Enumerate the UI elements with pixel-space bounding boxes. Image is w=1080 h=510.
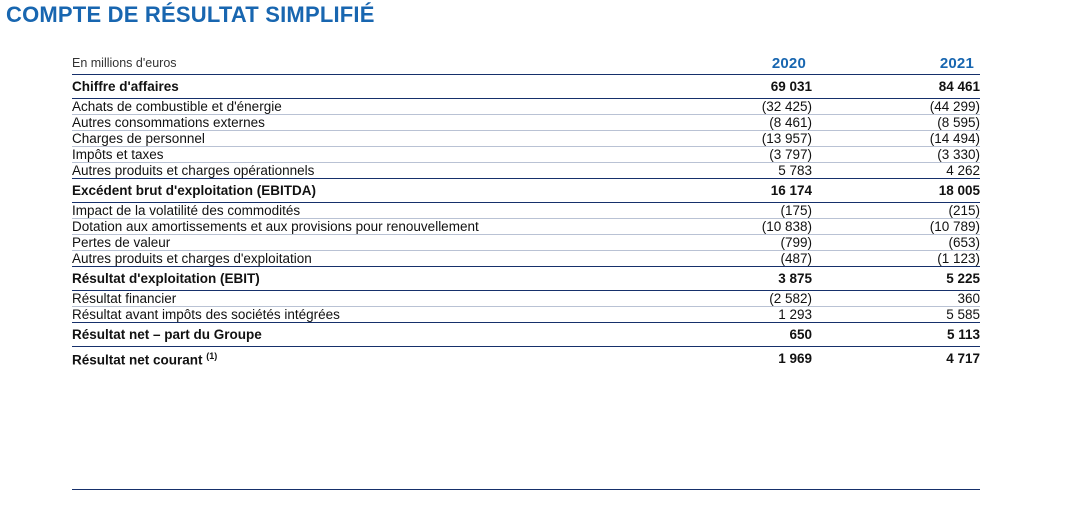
table-row: Résultat financier (2 582) 360 [72,291,980,307]
row-value-2020: 650 [644,323,812,347]
row-label: Impact de la volatilité des commodités [72,203,644,219]
column-header-2021: 2021 [812,52,980,75]
row-value-2020: 1 293 [644,307,812,323]
row-label: Charges de personnel [72,131,644,147]
row-value-2020: 69 031 [644,75,812,99]
table-row: Dotation aux amortissements et aux provi… [72,219,980,235]
row-value-2021: 84 461 [812,75,980,99]
table-row: Excédent brut d'exploitation (EBITDA) 16… [72,179,980,203]
table-row: Résultat net – part du Groupe 650 5 113 [72,323,980,347]
footnote-marker: (1) [206,351,217,361]
document-page: COMPTE DE RÉSULTAT SIMPLIFIÉ En millions… [0,0,1080,510]
table-row: Autres produits et charges d'exploitatio… [72,251,980,267]
column-header-2020: 2020 [644,52,812,75]
income-statement-table: En millions d'euros 2020 2021 Chiffre d'… [72,52,980,371]
table-row: Achats de combustible et d'énergie (32 4… [72,99,980,115]
row-label: Résultat net – part du Groupe [72,323,644,347]
table-row: Impôts et taxes (3 797) (3 330) [72,147,980,163]
table-row: Résultat net courant (1) 1 969 4 717 [72,347,980,371]
row-value-2020: (799) [644,235,812,251]
row-value-2021: (215) [812,203,980,219]
row-value-2020: (3 797) [644,147,812,163]
row-value-2020: 16 174 [644,179,812,203]
row-value-2021: (653) [812,235,980,251]
row-value-2020: (2 582) [644,291,812,307]
row-label: Chiffre d'affaires [72,75,644,99]
row-label: Résultat financier [72,291,644,307]
row-label: Autres produits et charges opérationnels [72,163,644,179]
page-title: COMPTE DE RÉSULTAT SIMPLIFIÉ [6,2,375,28]
row-label: Autres produits et charges d'exploitatio… [72,251,644,267]
row-value-2020: (175) [644,203,812,219]
table-bottom-rule [72,489,980,490]
table-row: Impact de la volatilité des commodités (… [72,203,980,219]
unit-label: En millions d'euros [72,52,644,75]
row-label: Excédent brut d'exploitation (EBITDA) [72,179,644,203]
row-label: Résultat d'exploitation (EBIT) [72,267,644,291]
row-label: Autres consommations externes [72,115,644,131]
row-label: Dotation aux amortissements et aux provi… [72,219,644,235]
row-value-2021: (14 494) [812,131,980,147]
row-value-2021: 4 262 [812,163,980,179]
table-row: Résultat avant impôts des sociétés intég… [72,307,980,323]
table-header-row: En millions d'euros 2020 2021 [72,52,980,75]
row-label: Pertes de valeur [72,235,644,251]
row-value-2021: 5 225 [812,267,980,291]
row-label: Impôts et taxes [72,147,644,163]
table-row: Autres produits et charges opérationnels… [72,163,980,179]
row-value-2021: 18 005 [812,179,980,203]
row-value-2021: 5 585 [812,307,980,323]
row-value-2020: (32 425) [644,99,812,115]
row-label: Achats de combustible et d'énergie [72,99,644,115]
row-value-2020: 1 969 [644,347,812,371]
table-row: Pertes de valeur (799) (653) [72,235,980,251]
row-value-2021: (3 330) [812,147,980,163]
row-value-2020: 5 783 [644,163,812,179]
row-label-text: Résultat net courant [72,352,206,367]
row-label: Résultat net courant (1) [72,347,644,371]
row-value-2020: 3 875 [644,267,812,291]
table-row: Charges de personnel (13 957) (14 494) [72,131,980,147]
row-label: Résultat avant impôts des sociétés intég… [72,307,644,323]
row-value-2020: (8 461) [644,115,812,131]
table-row: Résultat d'exploitation (EBIT) 3 875 5 2… [72,267,980,291]
row-value-2021: (44 299) [812,99,980,115]
row-value-2021: 5 113 [812,323,980,347]
row-value-2020: (10 838) [644,219,812,235]
table-row: Chiffre d'affaires 69 031 84 461 [72,75,980,99]
row-value-2020: (487) [644,251,812,267]
row-value-2021: 4 717 [812,347,980,371]
row-value-2020: (13 957) [644,131,812,147]
row-value-2021: (1 123) [812,251,980,267]
row-value-2021: 360 [812,291,980,307]
row-value-2021: (10 789) [812,219,980,235]
row-value-2021: (8 595) [812,115,980,131]
table-row: Autres consommations externes (8 461) (8… [72,115,980,131]
